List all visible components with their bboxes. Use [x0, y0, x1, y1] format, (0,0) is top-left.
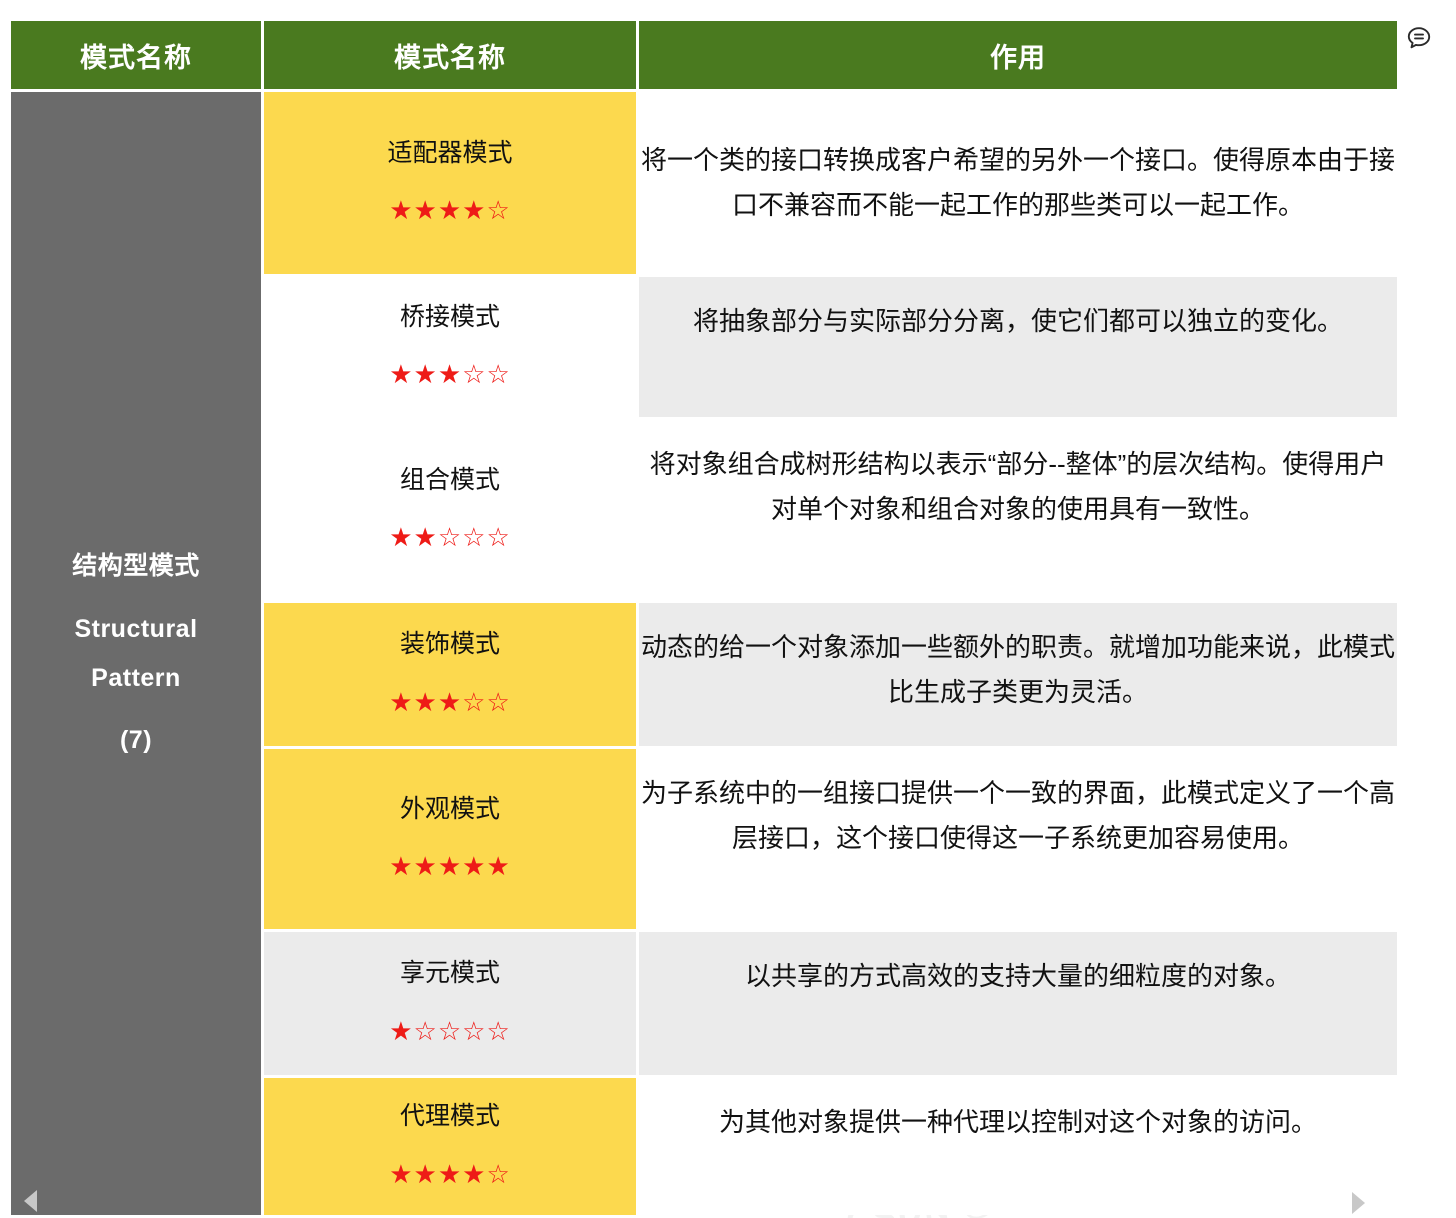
- pattern-desc-cell: 为其他对象提供一种代理以控制对这个对象的访问。: [639, 1078, 1397, 1215]
- rating-stars: ★★★☆☆: [264, 361, 636, 390]
- page-root: CSDN @blaceld 模式名称 模式名称 作用 结: [0, 0, 1456, 1218]
- group-label-en-2: Pattern: [11, 654, 261, 703]
- pattern-desc-cell: 将抽象部分与实际部分分离，使它们都可以独立的变化。: [639, 277, 1397, 417]
- pattern-name: 外观模式: [264, 796, 636, 824]
- pattern-desc-cell: 以共享的方式高效的支持大量的细粒度的对象。: [639, 932, 1397, 1075]
- pattern-name: 代理模式: [264, 1103, 636, 1131]
- pattern-name: 装饰模式: [264, 631, 636, 659]
- pattern-desc-cell: 将一个类的接口转换成客户希望的另外一个接口。使得原本由于接口不兼容而不能一起工作…: [639, 92, 1397, 274]
- pattern-table-wrapper: 模式名称 模式名称 作用 结构型模式 Structural Pattern (7…: [8, 18, 1397, 1195]
- table-row: 结构型模式 Structural Pattern (7) 适配器模式 ★★★★☆…: [11, 92, 1397, 274]
- pattern-desc-cell: 将对象组合成树形结构以表示“部分--整体”的层次结构。使得用户对单个对象和组合对…: [639, 420, 1397, 600]
- pattern-name-cell: 代理模式 ★★★★☆: [264, 1078, 636, 1215]
- group-label-cn: 结构型模式: [11, 542, 261, 591]
- pattern-name: 适配器模式: [264, 140, 636, 168]
- pattern-name-cell: 享元模式 ★☆☆☆☆: [264, 932, 636, 1075]
- pattern-desc-cell: 动态的给一个对象添加一些额外的职责。就增加功能来说，此模式比生成子类更为灵活。: [639, 603, 1397, 746]
- rating-stars: ★★★★☆: [264, 1161, 636, 1190]
- header-cell-purpose: 作用: [639, 21, 1397, 89]
- header-row: 模式名称 模式名称 作用: [11, 21, 1397, 89]
- table-body: 结构型模式 Structural Pattern (7) 适配器模式 ★★★★☆…: [11, 92, 1397, 1215]
- group-spacer-2: [11, 702, 261, 716]
- design-pattern-table: 模式名称 模式名称 作用 结构型模式 Structural Pattern (7…: [8, 18, 1400, 1218]
- scroll-left-arrow[interactable]: [24, 1190, 37, 1212]
- pattern-desc-cell: 为子系统中的一组接口提供一个一致的界面，此模式定义了一个高层接口，这个接口使得这…: [639, 749, 1397, 929]
- pattern-name-cell: 装饰模式 ★★★☆☆: [264, 603, 636, 746]
- rating-stars: ★★★☆☆: [264, 689, 636, 718]
- rating-stars: ★★★★☆: [264, 197, 636, 226]
- group-label-en-1: Structural: [11, 605, 261, 654]
- comment-icon[interactable]: [1404, 24, 1434, 54]
- scroll-right-arrow[interactable]: [1352, 1192, 1365, 1214]
- header-cell-category: 模式名称: [11, 21, 261, 89]
- pattern-name-cell: 组合模式 ★★☆☆☆: [264, 420, 636, 600]
- header-cell-pattern: 模式名称: [264, 21, 636, 89]
- pattern-name-cell: 外观模式 ★★★★★: [264, 749, 636, 929]
- table-header: 模式名称 模式名称 作用: [11, 21, 1397, 89]
- pattern-name-cell: 适配器模式 ★★★★☆: [264, 92, 636, 274]
- rating-stars: ★★☆☆☆: [264, 524, 636, 553]
- group-count: (7): [11, 716, 261, 765]
- pattern-name-cell: 桥接模式 ★★★☆☆: [264, 277, 636, 417]
- rating-stars: ★☆☆☆☆: [264, 1018, 636, 1047]
- pattern-name: 组合模式: [264, 467, 636, 495]
- group-cell-structural: 结构型模式 Structural Pattern (7): [11, 92, 261, 1215]
- pattern-name: 桥接模式: [264, 304, 636, 332]
- pattern-name: 享元模式: [264, 960, 636, 988]
- rating-stars: ★★★★★: [264, 853, 636, 882]
- group-spacer: [11, 591, 261, 605]
